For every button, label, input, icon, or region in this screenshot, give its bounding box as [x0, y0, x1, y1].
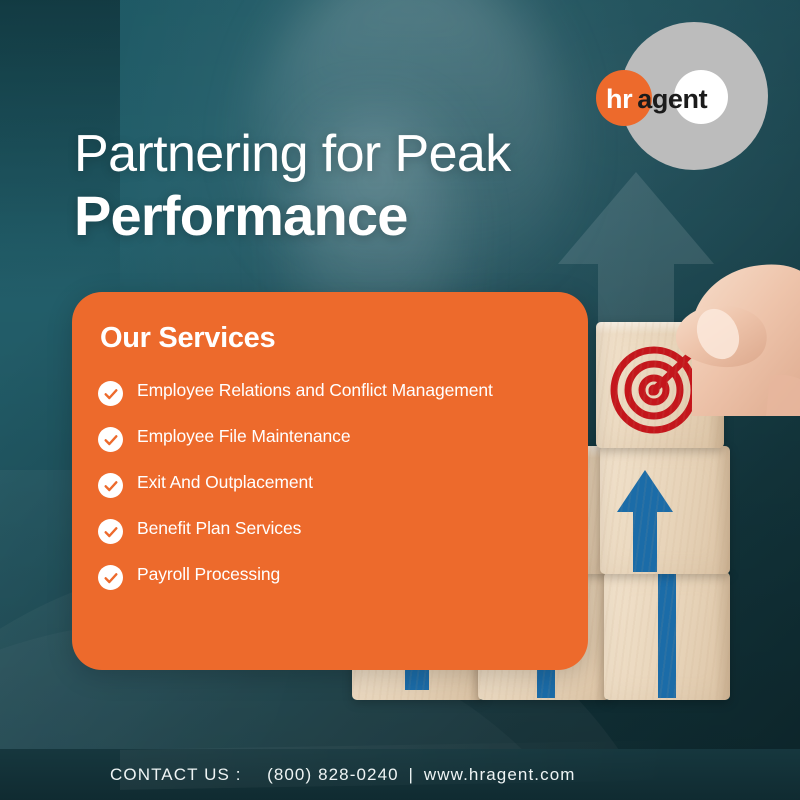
- check-circle-icon: [98, 473, 123, 498]
- wooden-block-high-bottom: [604, 572, 730, 700]
- service-label: Employee Relations and Conflict Manageme…: [137, 380, 493, 401]
- check-circle-icon: [98, 519, 123, 544]
- services-panel: Our Services Employee Relations and Conf…: [72, 292, 588, 670]
- hand-placing-block: [666, 226, 800, 416]
- service-label: Exit And Outplacement: [137, 472, 313, 493]
- check-circle-icon: [98, 565, 123, 590]
- check-circle-icon: [98, 427, 123, 452]
- footer-separator: |: [409, 765, 415, 784]
- upward-arrow-icon: [616, 468, 674, 574]
- service-item-benefit-plan[interactable]: Benefit Plan Services: [98, 518, 570, 544]
- block-right-bevel: [714, 572, 730, 700]
- service-label: Benefit Plan Services: [137, 518, 301, 539]
- contact-footer-bar: CONTACT US : (800) 828-0240 | www.hragen…: [0, 749, 800, 800]
- check-circle-icon: [98, 381, 123, 406]
- block-right-bevel: [714, 446, 730, 574]
- service-item-file-maintenance[interactable]: Employee File Maintenance: [98, 426, 570, 452]
- service-label: Employee File Maintenance: [137, 426, 350, 447]
- services-list: Employee Relations and Conflict Manageme…: [98, 380, 570, 590]
- service-label: Payroll Processing: [137, 564, 280, 585]
- poster-canvas: hr agent Partnering for Peak Performance: [0, 0, 800, 800]
- services-title: Our Services: [100, 322, 275, 355]
- service-item-employee-relations[interactable]: Employee Relations and Conflict Manageme…: [98, 380, 570, 406]
- footer-website[interactable]: www.hragent.com: [424, 765, 576, 784]
- service-item-exit-outplacement[interactable]: Exit And Outplacement: [98, 472, 570, 498]
- footer-contact-line: CONTACT US : (800) 828-0240 | www.hragen…: [110, 765, 576, 785]
- footer-phone[interactable]: (800) 828-0240: [267, 765, 399, 784]
- wooden-block-high-middle: [600, 446, 730, 574]
- footer-contact-label: CONTACT US :: [110, 765, 242, 784]
- service-item-payroll-processing[interactable]: Payroll Processing: [98, 564, 570, 590]
